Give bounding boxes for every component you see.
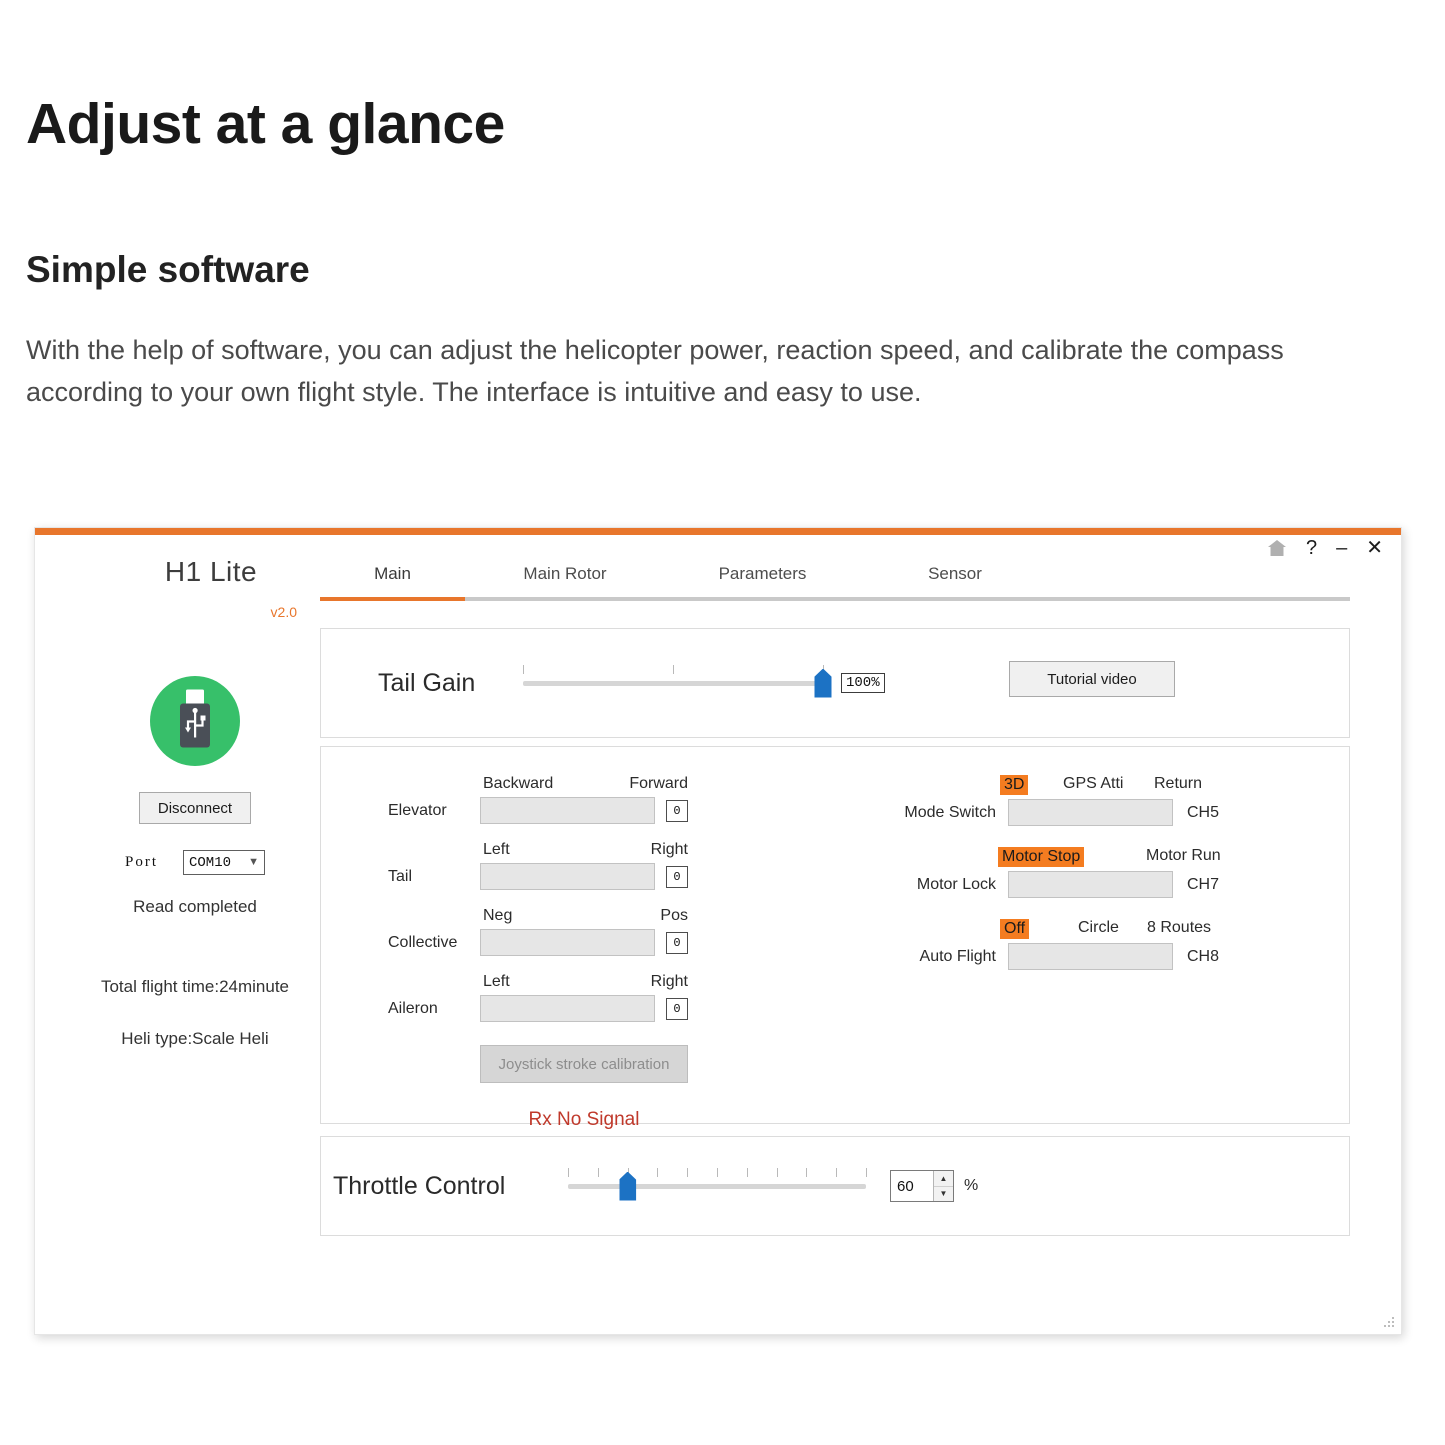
aileron-bar[interactable] — [480, 995, 655, 1022]
tail-gain-ticks — [523, 665, 823, 674]
sidebar: Disconnect Port COM10 ▼ Read completed T… — [75, 658, 315, 1049]
page-title: Adjust at a glance — [26, 95, 1326, 155]
read-status: Read completed — [75, 897, 315, 917]
throttle-increment-button[interactable]: ▲ — [934, 1171, 953, 1187]
minimize-button[interactable]: – — [1336, 538, 1347, 558]
channel-row-collective: Neg Pos Collective 0 — [388, 907, 758, 973]
channels-panel: Backward Forward Elevator 0 Left Right T… — [320, 746, 1350, 1124]
throttle-label: Throttle Control — [333, 1172, 568, 1201]
channel-row-elevator: Backward Forward Elevator 0 — [388, 775, 758, 841]
brand-version: v2.0 — [111, 604, 311, 620]
tab-active-indicator — [320, 597, 465, 601]
mode-switch-mid-label: GPS Atti — [1063, 775, 1123, 793]
throttle-value[interactable]: 60 — [891, 1171, 933, 1201]
motor-lock-end-label: Motor Run — [1146, 847, 1221, 865]
tab-parameters[interactable]: Parameters — [665, 564, 860, 597]
elevator-label: Elevator — [388, 802, 480, 820]
collective-label: Collective — [388, 934, 480, 952]
aileron-value[interactable]: 0 — [666, 998, 688, 1020]
motor-lock-label: Motor Lock — [896, 876, 1008, 894]
throttle-unit: % — [964, 1177, 978, 1195]
motor-lock-channel: CH7 — [1187, 876, 1219, 894]
throttle-ticks — [568, 1168, 866, 1177]
tail-gain-slider[interactable] — [523, 681, 823, 686]
tail-gain-label: Tail Gain — [378, 669, 523, 698]
stick-channels-group: Backward Forward Elevator 0 Left Right T… — [388, 775, 758, 1131]
motor-lock-bar[interactable] — [1008, 871, 1173, 898]
chevron-down-icon: ▼ — [248, 857, 259, 868]
app-window: ? – ✕ H1 Lite v2.0 Main Main Rotor Param… — [34, 527, 1402, 1335]
motor-lock-active-label: Motor Stop — [998, 847, 1084, 867]
elevator-bar[interactable] — [480, 797, 655, 824]
auto-flight-channel: CH8 — [1187, 948, 1219, 966]
mode-switch-end-label: Return — [1154, 775, 1202, 793]
tail-gain-panel: Tail Gain 100% Tutorial video — [320, 628, 1350, 738]
tail-gain-track — [523, 681, 823, 686]
auto-flight-end-label: 8 Routes — [1147, 919, 1211, 937]
port-value: COM10 — [189, 855, 231, 871]
collective-cap-right: Pos — [483, 907, 688, 925]
tutorial-video-button[interactable]: Tutorial video — [1009, 661, 1175, 697]
mode-switch-channel: CH5 — [1187, 804, 1219, 822]
collective-bar[interactable] — [480, 929, 655, 956]
tail-gain-value[interactable]: 100% — [841, 673, 885, 693]
help-button[interactable]: ? — [1306, 538, 1317, 558]
tab-underline — [320, 597, 1350, 601]
usb-icon — [172, 690, 218, 753]
marketing-header: Adjust at a glance Simple software With … — [26, 95, 1326, 414]
channel-row-tail: Left Right Tail 0 — [388, 841, 758, 907]
tab-main[interactable]: Main — [320, 564, 465, 597]
auto-flight-mid-label: Circle — [1078, 919, 1119, 937]
tail-bar[interactable] — [480, 863, 655, 890]
throttle-stepper[interactable]: 60 ▲ ▼ — [890, 1170, 954, 1202]
elevator-value[interactable]: 0 — [666, 800, 688, 822]
rx-signal-status: Rx No Signal — [480, 1109, 688, 1131]
port-label: Port — [125, 854, 158, 871]
auto-flight-label: Auto Flight — [896, 948, 1008, 966]
page-subtitle: Simple software — [26, 155, 1326, 291]
aileron-cap-right: Right — [483, 973, 688, 991]
brand-block: H1 Lite v2.0 — [111, 556, 311, 620]
window-controls: ? – ✕ — [1267, 538, 1383, 558]
home-icon[interactable] — [1267, 539, 1287, 557]
port-row: Port COM10 ▼ — [75, 850, 315, 875]
tail-label: Tail — [388, 868, 480, 886]
mode-switch-active-label: 3D — [1000, 775, 1028, 795]
auto-flight-active-label: Off — [1000, 919, 1029, 939]
port-select[interactable]: COM10 ▼ — [183, 850, 265, 875]
switch-channels-group: 3D GPS Atti Return Mode Switch CH5 Motor… — [896, 775, 1296, 991]
joystick-stroke-calibration-button[interactable]: Joystick stroke calibration — [480, 1045, 688, 1083]
aileron-label: Aileron — [388, 1000, 480, 1018]
tail-value[interactable]: 0 — [666, 866, 688, 888]
throttle-track — [568, 1184, 866, 1189]
throttle-decrement-button[interactable]: ▼ — [934, 1187, 953, 1202]
close-button[interactable]: ✕ — [1366, 538, 1383, 558]
page-paragraph: With the help of software, you can adjus… — [26, 291, 1286, 414]
tab-main-rotor[interactable]: Main Rotor — [465, 564, 665, 597]
throttle-stepper-arrows[interactable]: ▲ ▼ — [933, 1171, 953, 1201]
heli-type: Heli type:Scale Heli — [75, 1029, 315, 1049]
tab-bar: Main Main Rotor Parameters Sensor — [320, 564, 1350, 601]
auto-flight-bar[interactable] — [1008, 943, 1173, 970]
total-flight-time: Total flight time:24minute — [75, 977, 315, 997]
disconnect-button[interactable]: Disconnect — [139, 792, 251, 824]
channel-row-motor-lock: Motor Stop Motor Run Motor Lock CH7 — [896, 847, 1296, 919]
tab-sensor[interactable]: Sensor — [860, 564, 1050, 597]
throttle-slider[interactable] — [568, 1184, 866, 1189]
collective-value[interactable]: 0 — [666, 932, 688, 954]
titlebar-accent — [35, 528, 1401, 535]
mode-switch-bar[interactable] — [1008, 799, 1173, 826]
brand-name: H1 Lite — [111, 556, 311, 588]
channel-row-mode-switch: 3D GPS Atti Return Mode Switch CH5 — [896, 775, 1296, 847]
connection-status-indicator — [150, 676, 240, 766]
throttle-panel: Throttle Control — [320, 1136, 1350, 1236]
mode-switch-label: Mode Switch — [896, 804, 1008, 822]
channel-row-aileron: Left Right Aileron 0 — [388, 973, 758, 1039]
elevator-cap-right: Forward — [483, 775, 688, 793]
channel-row-auto-flight: Off Circle 8 Routes Auto Flight CH8 — [896, 919, 1296, 991]
tail-cap-right: Right — [483, 841, 688, 859]
resize-grip[interactable] — [1380, 1313, 1394, 1327]
